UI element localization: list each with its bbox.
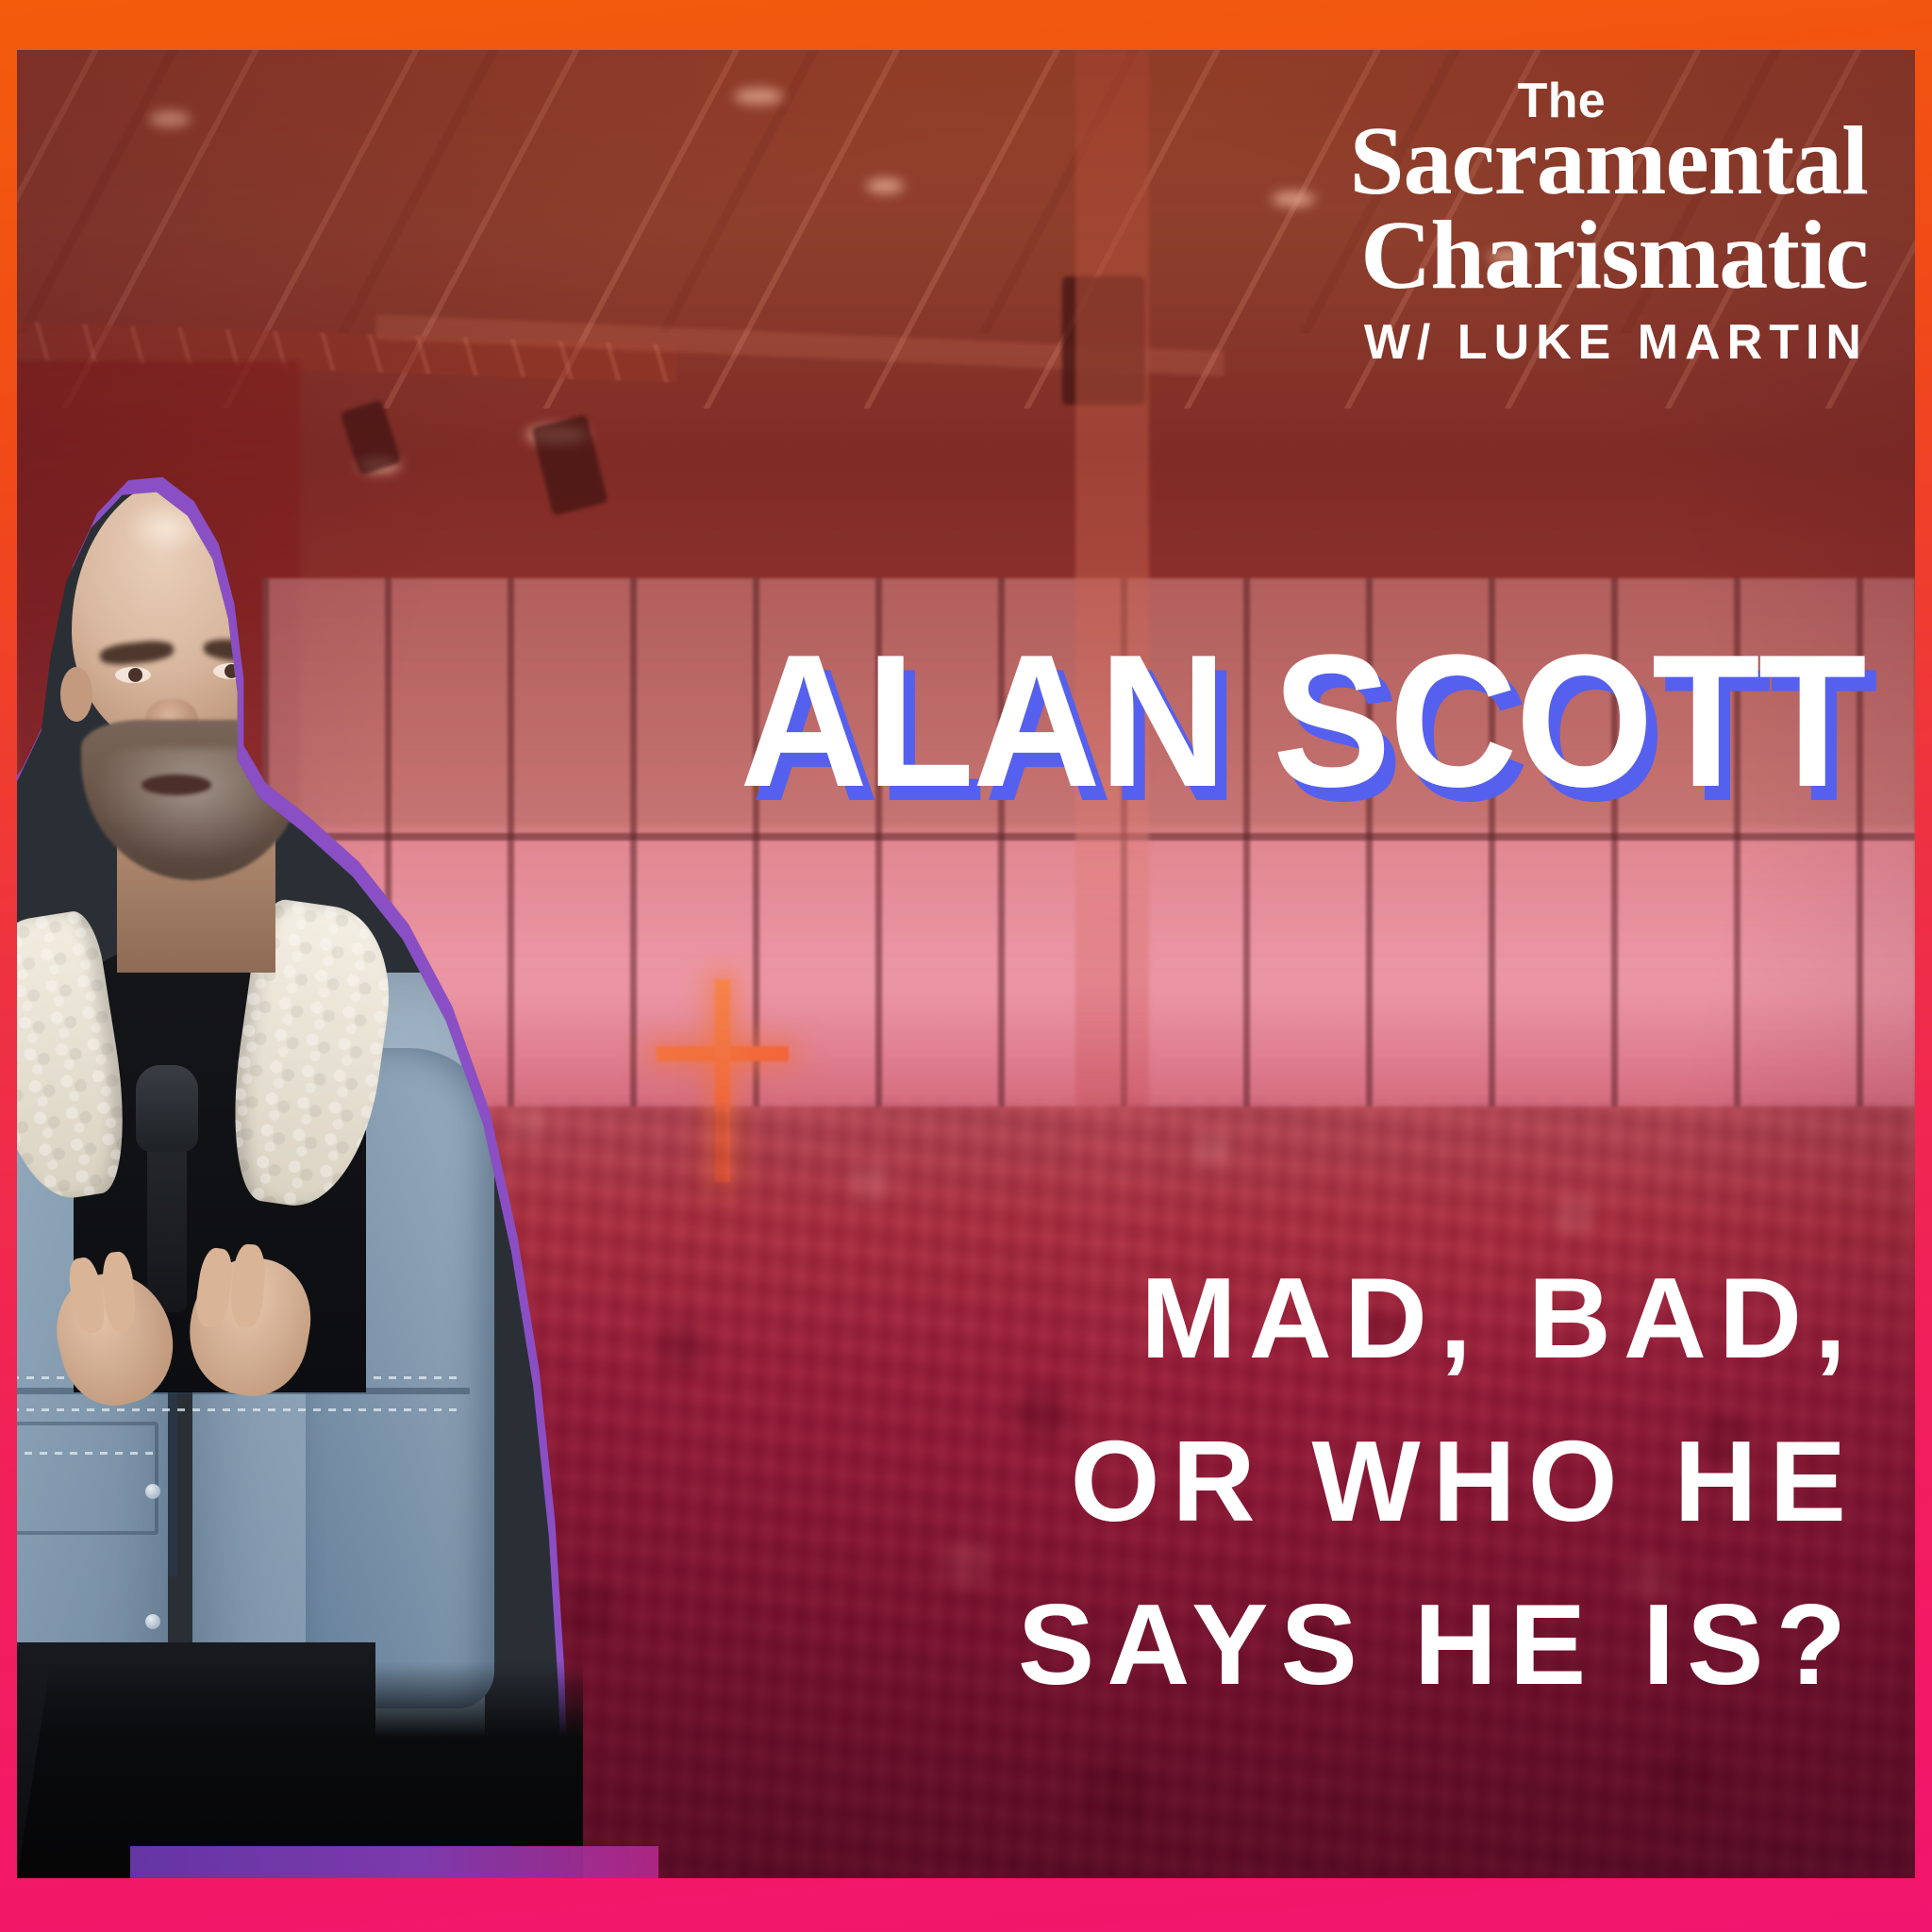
- mouth: [142, 774, 211, 795]
- logo-title-line-2: Charismatic: [1350, 207, 1868, 305]
- guest-photo-cutout: [17, 388, 583, 1878]
- denim-button: [145, 1484, 160, 1499]
- microphone-icon: [136, 1065, 198, 1152]
- ear-right: [289, 661, 319, 714]
- logo-title-line-1: Sacramental: [1350, 112, 1868, 210]
- guest-name: ALAN SCOTT: [740, 635, 1865, 808]
- episode-title-line-1: MAD, BAD,: [519, 1237, 1858, 1400]
- logo-host-credit: W/ LUKE MARTIN: [1350, 318, 1868, 367]
- cutout-subject-body: [17, 388, 583, 1878]
- denim-button: [145, 1614, 160, 1629]
- bottom-violet-accent: [130, 1846, 658, 1878]
- episode-title-line-3: SAYS HE IS?: [519, 1563, 1858, 1726]
- microphone-body: [147, 1142, 187, 1312]
- show-logo-lockup: The Sacramental Charismatic W/ LUKE MART…: [1350, 76, 1868, 367]
- episode-title-line-2: OR WHO HE: [519, 1400, 1858, 1563]
- ear-left: [60, 667, 92, 722]
- denim-stitching: [17, 1452, 153, 1455]
- podcast-cover-art: The Sacramental Charismatic W/ LUKE MART…: [0, 0, 1932, 1932]
- artwork-canvas: The Sacramental Charismatic W/ LUKE MART…: [17, 50, 1915, 1878]
- denim-chest-pocket: [17, 1422, 158, 1535]
- episode-title: MAD, BAD, OR WHO HE SAYS HE IS?: [519, 1237, 1858, 1727]
- pupil-left: [128, 668, 142, 682]
- denim-stitching: [17, 1408, 460, 1411]
